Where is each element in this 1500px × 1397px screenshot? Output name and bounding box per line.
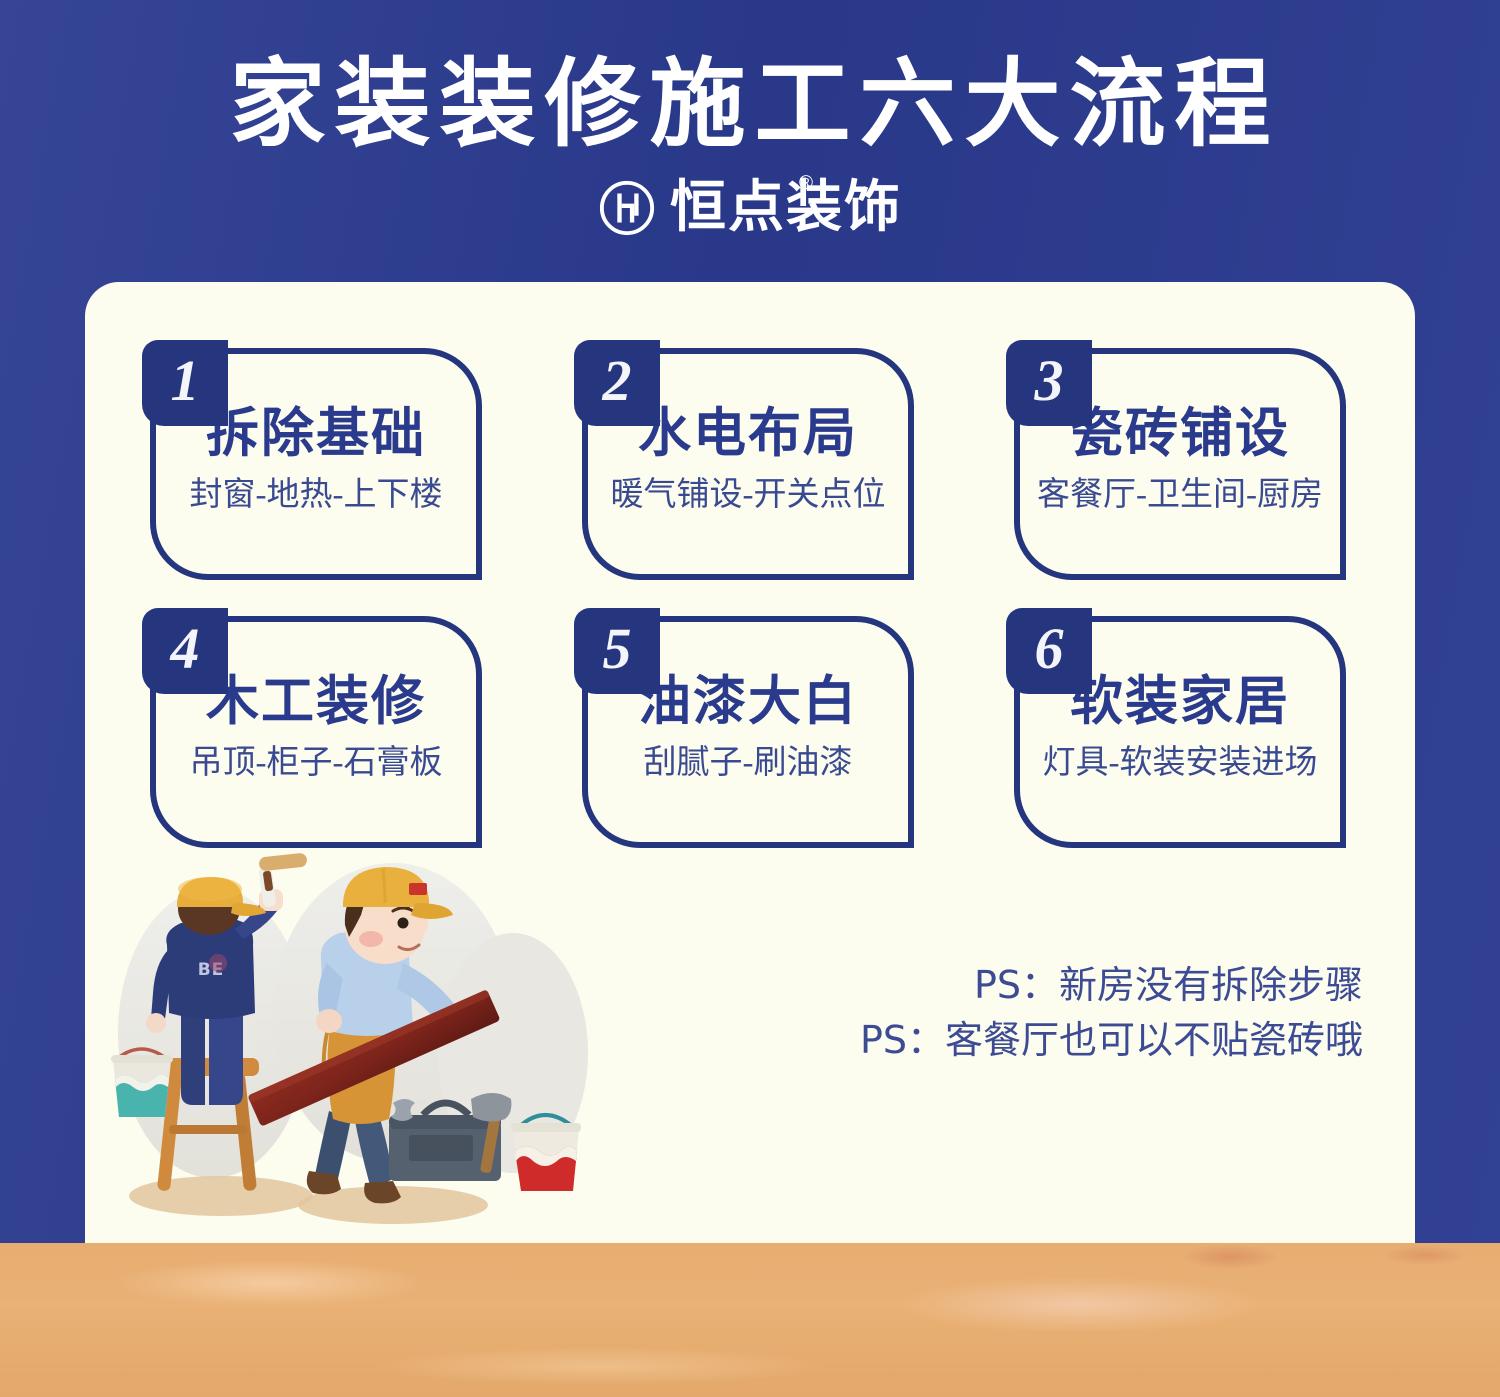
- step-number: 3: [1035, 352, 1064, 410]
- ps-note-line: PS：新房没有拆除步骤: [860, 958, 1363, 1013]
- step-card[interactable]: 4 木工装修 吊顶-柜子-石膏板: [150, 616, 482, 848]
- step-card[interactable]: 1 拆除基础 封窗-地热-上下楼: [150, 348, 482, 580]
- step-subtitle: 吊顶-柜子-石膏板: [154, 745, 478, 781]
- step-number: 5: [603, 620, 632, 678]
- step-subtitle: 封窗-地热-上下楼: [154, 477, 478, 513]
- step-number-badge: 5: [574, 608, 660, 694]
- step-subtitle: 暖气铺设-开关点位: [586, 477, 910, 513]
- poster-header: 家装装修施工六大流程 恒点装饰 ®: [0, 0, 1500, 268]
- step-number-badge: 3: [1006, 340, 1092, 426]
- ground-strip: [0, 1243, 1500, 1397]
- poster-root: 家装装修施工六大流程 恒点装饰 ® 1: [0, 0, 1500, 1397]
- step-card[interactable]: 3 瓷砖铺设 客餐厅-卫生间-厨房: [1014, 348, 1346, 580]
- step-card[interactable]: 2 水电布局 暖气铺设-开关点位: [582, 348, 914, 580]
- step-subtitle: 灯具-软装安装进场: [1018, 745, 1342, 781]
- two-construction-workers-illustration: BE: [93, 853, 593, 1243]
- content-panel: 1 拆除基础 封窗-地热-上下楼 2 水电布局 暖气铺设-开关点位: [85, 282, 1415, 1243]
- step-number: 1: [171, 352, 200, 410]
- registered-trademark-icon: ®: [799, 174, 813, 193]
- step-subtitle: 客餐厅-卫生间-厨房: [1018, 477, 1342, 513]
- red-paint-bucket: [511, 1115, 581, 1191]
- step-number: 6: [1035, 620, 1064, 678]
- step-number-badge: 4: [142, 608, 228, 694]
- steps-grid: 1 拆除基础 封窗-地热-上下楼 2 水电布局 暖气铺设-开关点位: [150, 348, 1350, 848]
- step-number-badge: 1: [142, 340, 228, 426]
- teal-paint-bucket: [111, 1049, 173, 1117]
- step-number-badge: 2: [574, 340, 660, 426]
- step-number: 4: [171, 620, 200, 678]
- step-card[interactable]: 5 油漆大白 刮腻子-刷油漆: [582, 616, 914, 848]
- ps-notes: PS：新房没有拆除步骤 PS：客餐厅也可以不贴瓷砖哦: [860, 958, 1363, 1069]
- step-number-badge: 6: [1006, 608, 1092, 694]
- brand-lockup: 恒点装饰 ®: [0, 172, 1500, 244]
- page-title: 家装装修施工六大流程: [0, 56, 1500, 152]
- ps-note-line: PS：客餐厅也可以不贴瓷砖哦: [860, 1013, 1363, 1068]
- brand-name: 恒点装饰: [670, 175, 902, 240]
- brand-name-wrap: 恒点装饰 ®: [670, 180, 902, 236]
- step-number: 2: [603, 352, 632, 410]
- step-card[interactable]: 6 软装家居 灯具-软装安装进场: [1014, 616, 1346, 848]
- hengdian-circle-logo-icon: [598, 179, 656, 237]
- step-subtitle: 刮腻子-刷油漆: [586, 745, 910, 781]
